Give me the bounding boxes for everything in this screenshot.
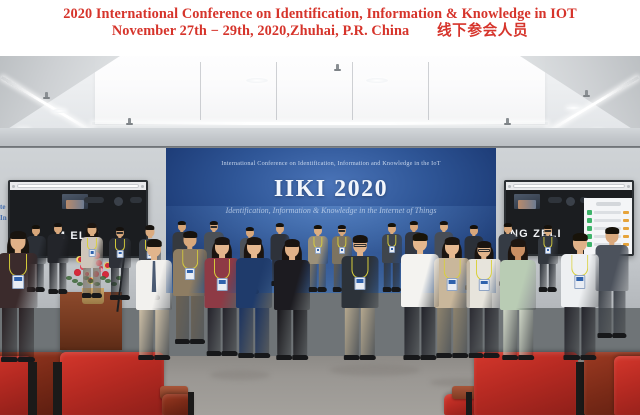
conference-date-location: November 27th − 29th, 2020,Zhuhai, P.R. … bbox=[112, 23, 409, 39]
attendee-hair-top bbox=[511, 239, 526, 247]
participant-list-title bbox=[596, 202, 621, 206]
attendee-shoe bbox=[238, 353, 254, 358]
attendee-shoe bbox=[58, 289, 68, 294]
attendee-shoe bbox=[1, 357, 18, 362]
attendee-lower-body bbox=[345, 308, 375, 360]
attendee-leg bbox=[540, 264, 547, 288]
attendee-shoe bbox=[452, 353, 468, 358]
carpet-stain bbox=[330, 364, 420, 376]
auditorium-seat[interactable] bbox=[614, 356, 640, 415]
attendee-name-badge bbox=[479, 279, 490, 292]
seat-gap bbox=[53, 362, 62, 415]
attendee-hair-top bbox=[410, 221, 418, 225]
attendee-shoe bbox=[548, 287, 557, 292]
attendee-eyeglasses bbox=[354, 244, 367, 247]
attendee-lower-body bbox=[2, 308, 34, 362]
attendee bbox=[500, 240, 536, 360]
ceiling bbox=[0, 56, 640, 134]
attendee-name-badge bbox=[354, 277, 365, 291]
attendee-hair-top bbox=[183, 231, 197, 238]
attendee-upper-body bbox=[500, 260, 536, 310]
attendee-lower-body bbox=[176, 296, 204, 344]
attendee-lower-body bbox=[384, 263, 400, 292]
attendee-leg bbox=[334, 264, 341, 288]
attendee-shoe bbox=[92, 293, 102, 298]
attendee-leg bbox=[111, 268, 119, 296]
attendee-lower-body bbox=[277, 310, 307, 360]
browser-toolbar-left bbox=[10, 182, 146, 190]
attendee-shoe bbox=[360, 355, 376, 360]
attendee bbox=[467, 242, 502, 358]
backdrop-logo-text: IIKI 2020 bbox=[166, 176, 496, 203]
attendee-leg bbox=[581, 307, 596, 356]
carpet-stain bbox=[210, 370, 270, 380]
attendee-shoe bbox=[154, 355, 170, 360]
browser-toolbar-right bbox=[506, 182, 632, 190]
attendee-leg bbox=[37, 264, 44, 288]
attendee bbox=[48, 224, 69, 294]
attendee-hair-top bbox=[10, 231, 26, 239]
attendee-shoe bbox=[207, 351, 222, 356]
attendee-shoe bbox=[597, 333, 612, 338]
attendee-lower-body bbox=[310, 264, 326, 292]
attendee bbox=[274, 240, 310, 360]
attendee-name-badge bbox=[185, 268, 195, 280]
attendee-leg bbox=[404, 307, 419, 356]
attendee-hair-top bbox=[544, 225, 552, 229]
attendee-shoe bbox=[484, 353, 499, 358]
attendee-hair-top bbox=[215, 237, 230, 245]
attendee-hair-top bbox=[54, 223, 62, 227]
ceiling-coffer-panel bbox=[95, 56, 545, 124]
browser-menu-icon bbox=[627, 185, 630, 188]
attendee-leg bbox=[223, 308, 236, 352]
attendee-hair-top bbox=[338, 225, 346, 229]
attendee-shoe bbox=[580, 355, 597, 360]
recessed-downlight bbox=[246, 78, 268, 83]
attendee-hair-top bbox=[276, 223, 284, 227]
recessed-downlight bbox=[566, 106, 581, 110]
attendee-shoe bbox=[403, 355, 420, 360]
attendee-hair-top bbox=[477, 241, 491, 248]
sprinkler-head bbox=[585, 90, 588, 96]
attendee-shoe bbox=[292, 355, 308, 360]
sprinkler-head bbox=[45, 92, 48, 98]
participant-avatar bbox=[587, 210, 592, 215]
attendee bbox=[596, 228, 629, 338]
attendee-hair-top bbox=[353, 235, 368, 243]
attendee-name-badge bbox=[447, 278, 458, 291]
attendee-lower-body bbox=[239, 308, 269, 358]
attendee-leg bbox=[598, 291, 611, 334]
attendee-lower-body bbox=[404, 307, 435, 360]
attendee-hair-top bbox=[605, 227, 619, 234]
attendee-lower-body bbox=[111, 268, 129, 300]
participant-name-bar bbox=[594, 211, 621, 214]
attendee-hair-top bbox=[246, 227, 254, 231]
attendee-leg bbox=[255, 308, 269, 354]
attendee-leg bbox=[59, 263, 67, 290]
participant-avatar bbox=[587, 218, 592, 223]
video-mic-icon bbox=[566, 197, 575, 206]
attendee-leg bbox=[83, 268, 91, 294]
attendee-shoe bbox=[82, 293, 92, 298]
ceiling-seam bbox=[428, 62, 429, 120]
participant-status-chip bbox=[623, 219, 629, 222]
attendee-shoe bbox=[502, 355, 518, 360]
attendee-upper-body bbox=[236, 258, 272, 308]
attendee-hair-top bbox=[32, 225, 40, 229]
attendee-hair-top bbox=[116, 227, 124, 231]
video-participant-tile bbox=[514, 194, 540, 209]
attendee-hair-top bbox=[247, 237, 262, 245]
seat-gap bbox=[466, 392, 472, 415]
attendee-upper-body bbox=[48, 234, 69, 263]
attendee-shoe bbox=[120, 295, 130, 300]
attendee-leg bbox=[485, 308, 498, 354]
attendee-leg bbox=[208, 308, 221, 352]
attendee-shoe bbox=[344, 355, 360, 360]
attendee-leg bbox=[139, 310, 153, 356]
cove-light-center bbox=[92, 122, 548, 125]
attendee-leg bbox=[277, 310, 291, 356]
attendee-eyeglasses bbox=[338, 230, 345, 232]
sprinkler-head bbox=[336, 64, 339, 70]
ceiling-seam bbox=[276, 62, 277, 120]
attendee-upper-body bbox=[401, 254, 439, 307]
participant-avatar bbox=[587, 226, 592, 231]
attendee bbox=[205, 238, 240, 356]
attendee-upper-body bbox=[274, 260, 310, 310]
attendee-hair-top bbox=[440, 221, 448, 225]
attendee-hair-top bbox=[573, 233, 588, 241]
attendee-shoe bbox=[309, 287, 318, 292]
participant-row bbox=[587, 210, 629, 215]
attendee-name-badge bbox=[315, 247, 321, 254]
attendee-eyeglasses bbox=[544, 230, 551, 232]
attendee-shoe bbox=[392, 287, 401, 292]
attendee-hair-top bbox=[314, 225, 322, 229]
attendee-lower-body bbox=[540, 264, 556, 292]
attendee bbox=[0, 232, 38, 362]
attendee-shoe bbox=[276, 355, 292, 360]
attendee-lower-body bbox=[503, 310, 533, 360]
attendee-lower-body bbox=[83, 268, 101, 298]
page-title: 2020 International Conference on Identif… bbox=[0, 6, 640, 22]
attendee-shoe bbox=[318, 287, 327, 292]
attendee-leg bbox=[613, 291, 626, 334]
attendee-hair-top bbox=[87, 223, 96, 228]
attendee-leg bbox=[293, 310, 307, 356]
attendee-shoe bbox=[563, 355, 580, 360]
browser-menu-icon bbox=[141, 185, 144, 188]
attendee-shoe bbox=[518, 355, 534, 360]
attendee-shoe bbox=[175, 339, 190, 344]
browser-url-bar bbox=[17, 184, 139, 188]
attendee bbox=[109, 228, 131, 300]
attendee-leg bbox=[384, 263, 391, 288]
attendee-leg bbox=[453, 308, 467, 354]
sprinkler-head bbox=[128, 118, 131, 124]
video-settings-icon bbox=[114, 197, 123, 206]
attendee bbox=[236, 238, 272, 358]
attendee-leg bbox=[319, 264, 326, 288]
attendee-name-badge bbox=[574, 275, 585, 289]
attendee-shoe bbox=[383, 287, 392, 292]
attendee-shoe bbox=[612, 333, 627, 338]
backdrop-tagline: Identification, Information & Knowledge … bbox=[166, 206, 496, 215]
video-timer-pill bbox=[84, 197, 104, 203]
attendee bbox=[136, 240, 172, 360]
attendee-hair-top bbox=[470, 225, 478, 229]
attendee-hair-top bbox=[445, 237, 460, 245]
attendee-hair-top bbox=[285, 239, 300, 247]
attendee-name-badge bbox=[389, 246, 395, 254]
attendee-leg bbox=[239, 308, 253, 354]
attendee bbox=[173, 232, 207, 344]
recessed-downlight bbox=[366, 78, 388, 83]
conference-title-block: 2020 International Conference on Identif… bbox=[0, 0, 640, 56]
attendee-leg bbox=[121, 268, 129, 296]
seat-gap bbox=[28, 362, 37, 415]
attendee-leg bbox=[93, 268, 101, 294]
group-photo: te In International Conference on Identi… bbox=[0, 56, 640, 415]
attendee-upper-body bbox=[596, 245, 629, 291]
participant-name-bar bbox=[594, 219, 621, 222]
attendee-lower-body bbox=[49, 263, 66, 294]
attendee bbox=[401, 234, 439, 360]
attendee-leg bbox=[470, 308, 483, 354]
attendee-lower-body bbox=[208, 308, 237, 356]
seat-gap bbox=[188, 392, 194, 415]
attendee-leg bbox=[155, 310, 169, 356]
attendee-shoe bbox=[420, 355, 437, 360]
attendee-lower-body bbox=[139, 310, 169, 360]
attendee-leg bbox=[2, 308, 17, 358]
attendee-hair-top bbox=[210, 221, 218, 225]
attendee-leg bbox=[19, 308, 34, 358]
attendee-hair-top bbox=[388, 223, 396, 227]
attendee-shoe bbox=[254, 353, 270, 358]
attendee-leg bbox=[191, 296, 204, 340]
participant-row bbox=[587, 218, 629, 223]
attendee-leg bbox=[421, 307, 436, 356]
attendee-leg bbox=[519, 310, 533, 356]
attendee-name-badge bbox=[117, 250, 124, 258]
video-leave-pill bbox=[130, 197, 142, 203]
attendee-hair-top bbox=[147, 239, 162, 247]
attendee bbox=[434, 238, 470, 358]
attendee-leg bbox=[437, 308, 451, 354]
browser-back-icon bbox=[12, 185, 15, 188]
attendee bbox=[81, 224, 103, 298]
attendee-leg bbox=[564, 307, 579, 356]
attendee-eyeglasses bbox=[210, 226, 217, 228]
attendee bbox=[308, 226, 328, 292]
attendee-hair-top bbox=[145, 225, 154, 230]
attendee-name-badge bbox=[12, 275, 24, 289]
recessed-downlight bbox=[52, 109, 67, 113]
attendee-shoe bbox=[110, 295, 120, 300]
attendee-leg bbox=[361, 308, 375, 356]
attendee-shoe bbox=[190, 339, 205, 344]
attendee bbox=[382, 224, 402, 292]
attendee-hair-top bbox=[413, 233, 428, 241]
attendee-leg bbox=[310, 264, 317, 288]
auditorium-seat[interactable] bbox=[474, 352, 578, 415]
auditorium-seat[interactable] bbox=[60, 352, 164, 415]
sprinkler-head bbox=[506, 118, 509, 124]
conference-subtitle: November 27th − 29th, 2020,Zhuhai, P.R. … bbox=[0, 23, 640, 39]
attendee-hair-top bbox=[504, 223, 512, 227]
attendee-lower-body bbox=[598, 291, 625, 338]
screenshot-root: 2020 International Conference on Identif… bbox=[0, 0, 640, 415]
browser-back-icon bbox=[508, 185, 511, 188]
attendee-leg bbox=[549, 264, 556, 288]
flower-blossom bbox=[74, 269, 81, 276]
conference-subtitle-chinese: 线下参会人员 bbox=[437, 22, 528, 39]
attendee-shoe bbox=[138, 355, 154, 360]
attendee-leg bbox=[176, 296, 189, 340]
attendee-leg bbox=[393, 263, 400, 288]
attendee-lower-body bbox=[564, 307, 595, 360]
attendee-eyeglasses bbox=[116, 232, 123, 234]
backdrop-conference-name: International Conference on Identificati… bbox=[166, 160, 496, 167]
attendee-shoe bbox=[48, 289, 58, 294]
attendee-leg bbox=[49, 263, 57, 290]
attendee-lower-body bbox=[437, 308, 467, 358]
attendee-leg bbox=[345, 308, 359, 356]
attendee-shoe bbox=[18, 357, 35, 362]
attendee-shoe bbox=[539, 287, 548, 292]
attendee-leg bbox=[503, 310, 517, 356]
attendee-lower-body bbox=[470, 308, 499, 358]
attendee bbox=[342, 236, 379, 360]
participant-status-chip bbox=[623, 211, 629, 214]
attendee-name-badge bbox=[217, 278, 228, 291]
attendee-hair-top bbox=[178, 221, 186, 225]
attendee bbox=[538, 226, 558, 292]
attendee-shoe bbox=[469, 353, 484, 358]
attendee-name-badge bbox=[89, 249, 96, 257]
attendee bbox=[561, 234, 599, 360]
ceiling-seam bbox=[200, 62, 201, 120]
browser-url-bar bbox=[513, 184, 625, 188]
ceiling-seam bbox=[352, 62, 353, 120]
attendee-name-badge bbox=[545, 247, 551, 254]
attendee-eyeglasses bbox=[478, 249, 490, 252]
video-timer-pill bbox=[548, 197, 562, 203]
